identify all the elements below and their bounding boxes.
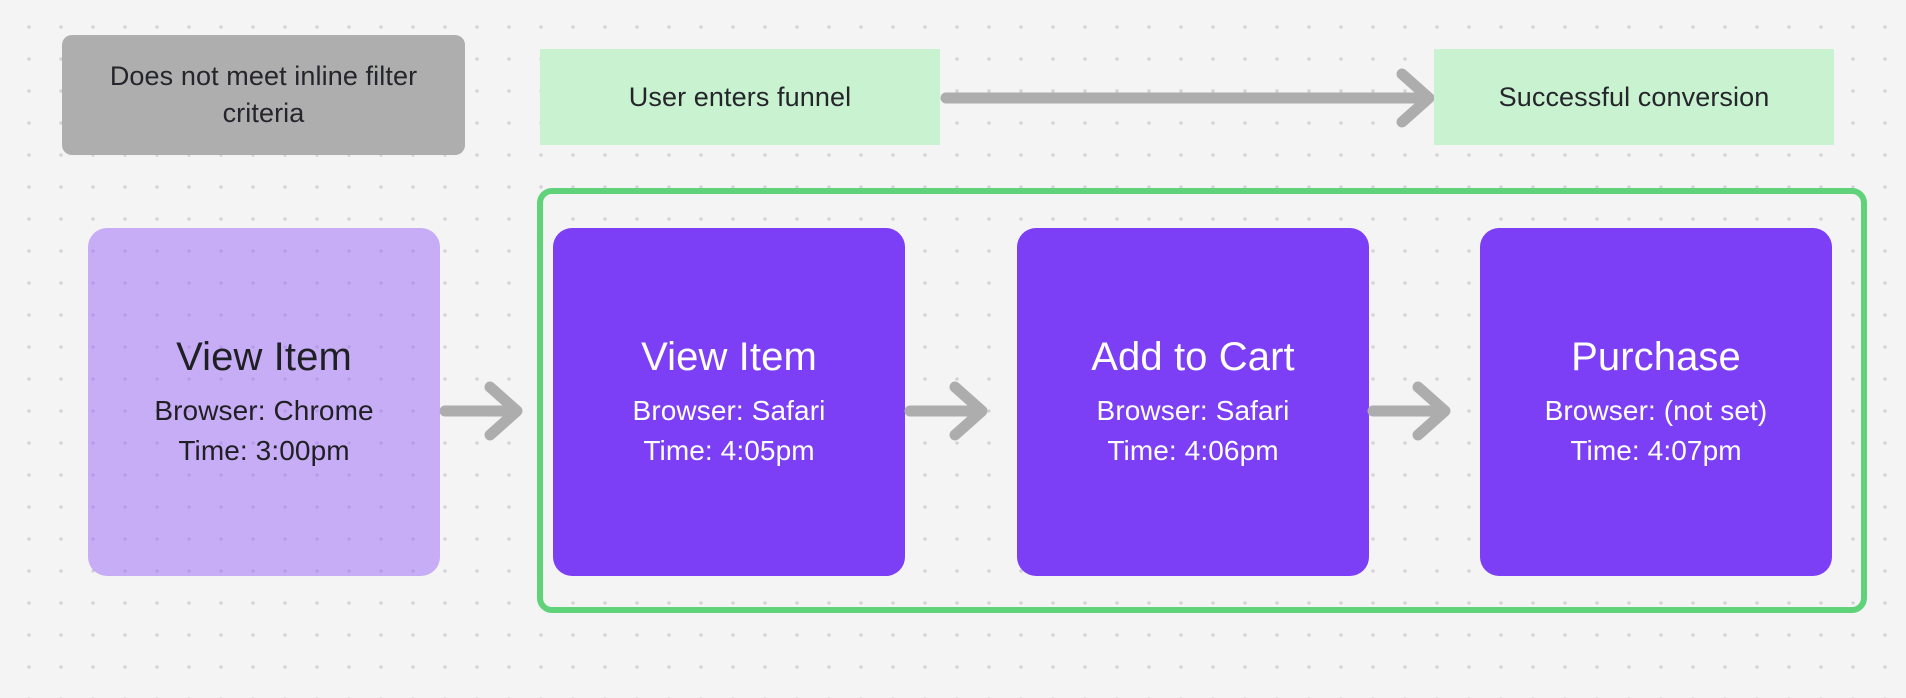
event-card-time: Time: 4:05pm <box>643 431 814 471</box>
legend-arrow <box>940 72 1440 124</box>
event-card-time: Time: 4:06pm <box>1107 431 1278 471</box>
event-card-view-item[interactable]: View Item Browser: Safari Time: 4:05pm <box>553 228 905 576</box>
event-card-title: Add to Cart <box>1091 334 1294 381</box>
event-card-time: Time: 4:07pm <box>1570 431 1741 471</box>
event-card-title: View Item <box>641 334 817 381</box>
event-card-browser: Browser: Chrome <box>154 391 373 431</box>
event-card-title: View Item <box>176 334 352 381</box>
event-card-browser: Browser: Safari <box>1097 391 1290 431</box>
event-card-title: Purchase <box>1571 334 1741 381</box>
legend-user-enters-funnel-box: User enters funnel <box>540 49 940 145</box>
event-card-time: Time: 3:00pm <box>178 431 349 471</box>
flow-arrow-1-icon <box>440 380 525 442</box>
event-card-browser: Browser: (not set) <box>1545 391 1768 431</box>
legend-successful-conversion-box: Successful conversion <box>1434 49 1834 145</box>
event-card-add-to-cart[interactable]: Add to Cart Browser: Safari Time: 4:06pm <box>1017 228 1369 576</box>
event-card-browser: Browser: Safari <box>633 391 826 431</box>
event-card-purchase[interactable]: Purchase Browser: (not set) Time: 4:07pm <box>1480 228 1832 576</box>
legend-excluded-box: Does not meet inline filter criteria <box>62 35 465 155</box>
event-card-excluded[interactable]: View Item Browser: Chrome Time: 3:00pm <box>88 228 440 576</box>
diagram-canvas: Does not meet inline filter criteria Use… <box>0 0 1906 698</box>
